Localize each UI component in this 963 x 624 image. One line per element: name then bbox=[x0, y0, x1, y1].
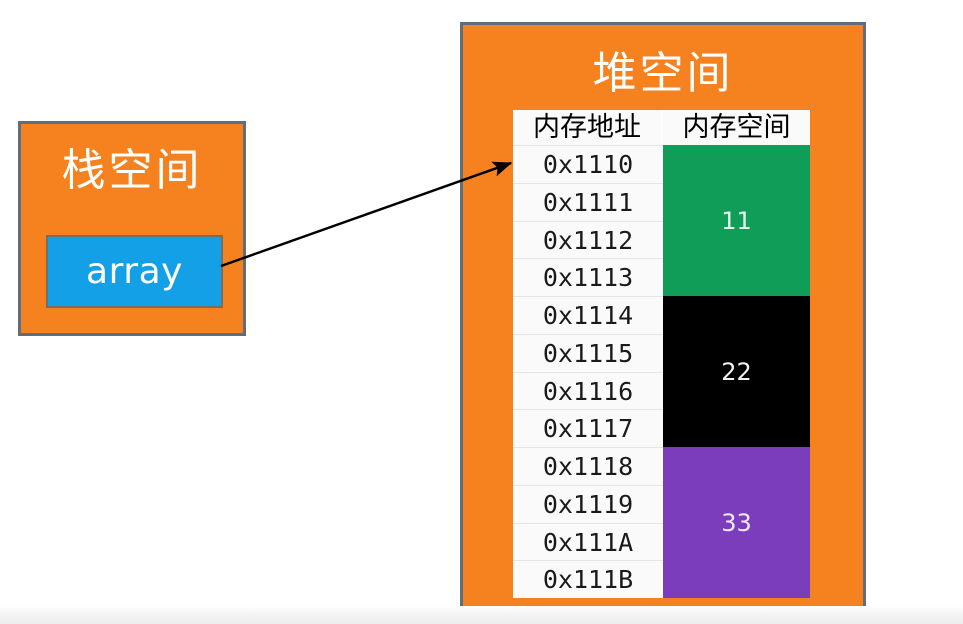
memory-address-cell: 0x1116 bbox=[513, 372, 663, 410]
memory-space-block: 33 bbox=[663, 447, 810, 598]
stack-space-box: 栈空间 array bbox=[18, 121, 246, 336]
memory-address-cell: 0x1111 bbox=[513, 183, 663, 221]
memory-space-header: 内存空间 bbox=[663, 110, 810, 145]
memory-address-rows: 0x11100x11110x11120x11130x11140x11150x11… bbox=[513, 145, 663, 598]
heap-space-title: 堆空间 bbox=[463, 49, 863, 99]
memory-address-column: 内存地址 0x11100x11110x11120x11130x11140x111… bbox=[513, 110, 663, 598]
memory-address-cell: 0x1118 bbox=[513, 447, 663, 485]
memory-space-block: 11 bbox=[663, 145, 810, 296]
memory-address-cell: 0x111A bbox=[513, 523, 663, 561]
memory-address-cell: 0x1112 bbox=[513, 221, 663, 259]
memory-address-header: 内存地址 bbox=[513, 110, 663, 145]
memory-space-value: 33 bbox=[721, 509, 752, 537]
memory-space-blocks: 112233 bbox=[663, 145, 810, 598]
memory-table: 内存地址 0x11100x11110x11120x11130x11140x111… bbox=[513, 110, 810, 598]
memory-address-cell: 0x111B bbox=[513, 560, 663, 598]
memory-space-value: 22 bbox=[721, 358, 752, 386]
memory-space-value: 11 bbox=[721, 207, 752, 235]
memory-address-cell: 0x1115 bbox=[513, 334, 663, 372]
memory-address-cell: 0x1119 bbox=[513, 485, 663, 523]
page-bottom-band bbox=[0, 606, 963, 624]
stack-space-title: 栈空间 bbox=[21, 146, 243, 196]
memory-address-cell: 0x1117 bbox=[513, 409, 663, 447]
memory-space-column: 内存空间 112233 bbox=[663, 110, 810, 598]
memory-address-cell: 0x1110 bbox=[513, 145, 663, 183]
diagram-canvas: 栈空间 array 堆空间 内存地址 0x11100x11110x11120x1… bbox=[0, 0, 963, 624]
array-variable-label: array bbox=[86, 252, 183, 292]
array-variable-box: array bbox=[46, 235, 223, 308]
memory-address-cell: 0x1113 bbox=[513, 258, 663, 296]
memory-address-cell: 0x1114 bbox=[513, 296, 663, 334]
memory-space-block: 22 bbox=[663, 296, 810, 447]
